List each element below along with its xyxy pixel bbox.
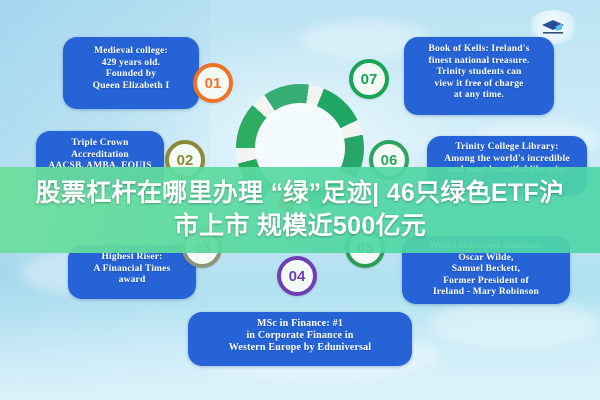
- card-07-line-4: view it free of charge: [412, 79, 546, 91]
- headline-line-1: 股票杠杆在哪里办理 “绿”足迹| 46只绿色ETF沪: [36, 177, 565, 210]
- headline-overlay-text: 股票杠杆在哪里办理 “绿”足迹| 46只绿色ETF沪 市上市 规模近500亿元: [0, 170, 600, 250]
- info-card-04: MSc in Finance: #1 in Corporate Finance …: [188, 312, 412, 366]
- step-badge-07: 07: [349, 59, 389, 99]
- info-card-07: Book of Kells: Ireland's finest national…: [404, 37, 554, 115]
- card-04-line-2: in Corporate Finance in: [196, 330, 404, 342]
- card-07-line-2: finest national treasure.: [412, 56, 546, 68]
- card-01-line-2: 429 years old.: [71, 58, 191, 70]
- card-03-line-2: A Financial Times: [76, 264, 188, 276]
- card-05-line-2: Oscar Wilde,: [410, 253, 562, 265]
- card-01-line-3: Founded by: [71, 69, 191, 81]
- step-badge-04: 04: [277, 256, 317, 296]
- cloud-shape: [430, 300, 600, 348]
- headline-line-2: 市上市 规模近500亿元: [174, 210, 426, 243]
- card-01-line-1: Medieval college:: [71, 46, 191, 58]
- info-card-03: Highest Riser: A Financial Times award: [68, 245, 196, 299]
- article-thumbnail-image: Medieval college: 429 years old. Founded…: [0, 0, 600, 400]
- card-07-line-5: at any time.: [412, 90, 546, 102]
- card-05-line-4: Former President of: [410, 276, 562, 288]
- card-03-line-3: award: [76, 275, 188, 287]
- card-05-line-5: Ireland - Mary Robinson: [410, 287, 562, 299]
- card-02-line-2: Accreditation: [44, 150, 156, 162]
- card-06-line-1: Trinity College Library:: [435, 142, 579, 154]
- card-07-line-1: Book of Kells: Ireland's: [412, 44, 546, 56]
- card-06-line-2: Among the world's incredible: [435, 154, 579, 166]
- info-card-01: Medieval college: 429 years old. Founded…: [63, 37, 199, 109]
- card-05-line-3: Samuel Beckett,: [410, 264, 562, 276]
- card-01-line-4: Queen Elizabeth I: [71, 81, 191, 93]
- card-07-line-3: Trinity students can: [412, 67, 546, 79]
- card-04-line-3: Western Europe by Eduniversal: [196, 342, 404, 354]
- card-03-line-1: Highest Riser:: [76, 252, 188, 264]
- card-04-line-1: MSc in Finance: #1: [196, 318, 404, 330]
- card-02-line-1: Triple Crown: [44, 138, 156, 150]
- step-badge-01: 01: [193, 63, 233, 103]
